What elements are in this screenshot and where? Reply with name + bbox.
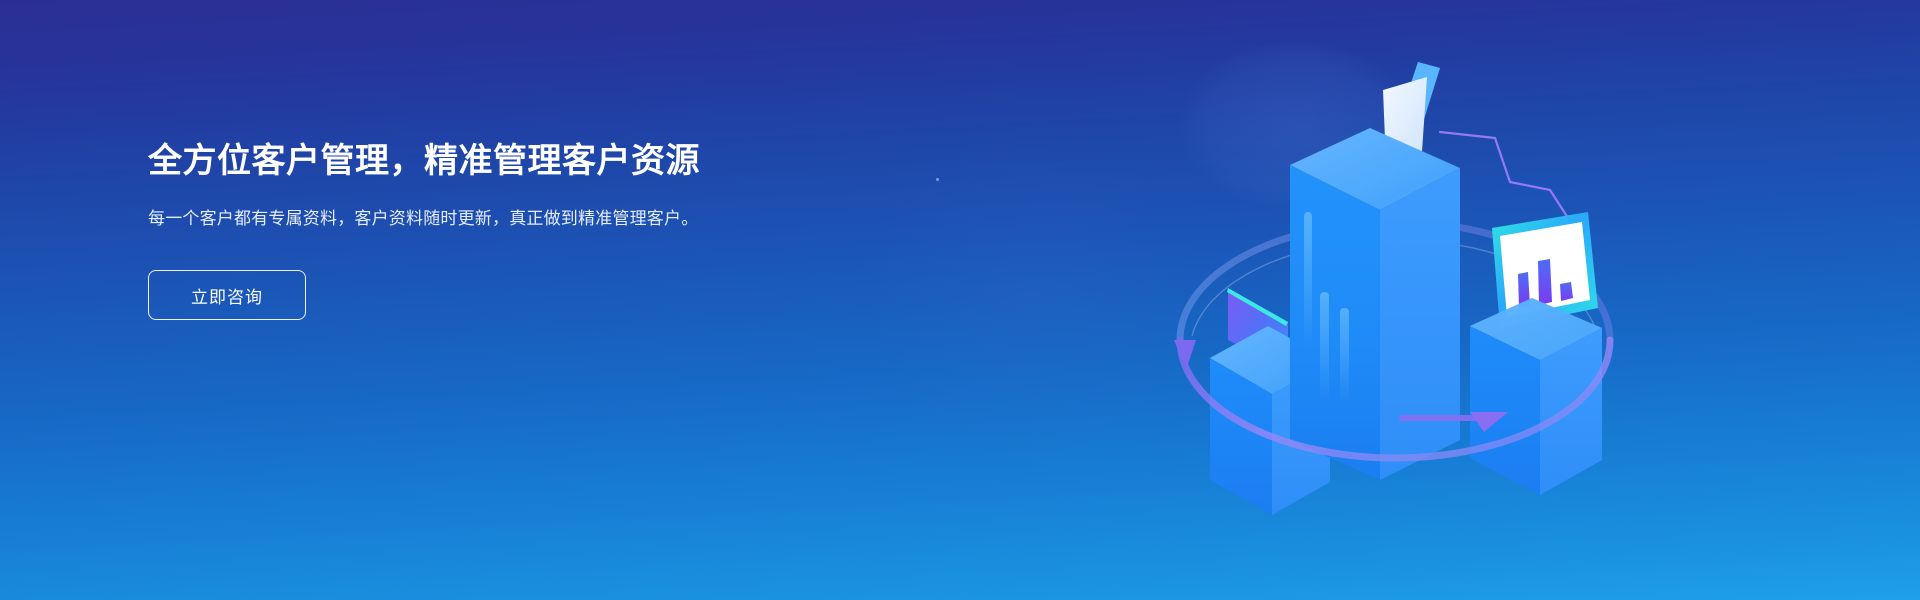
page-title: 全方位客户管理，精准管理客户资源 [148, 140, 788, 183]
hero-copy-block: 全方位客户管理，精准管理客户资源 每一个客户都有专属资料，客户资料随时更新，真正… [148, 140, 788, 320]
pillar-center-front [1290, 165, 1380, 480]
pillar-right [1470, 212, 1602, 495]
arrow-down-left-icon [1174, 340, 1196, 370]
sparkle-dot-icon [936, 178, 939, 181]
hero-illustration [1140, 40, 1660, 540]
hero-subtitle: 每一个客户都有专属资料，客户资料随时更新，真正做到精准管理客户。 [148, 205, 748, 233]
consult-now-button[interactable]: 立即咨询 [148, 270, 306, 320]
pillar-center-side [1380, 168, 1460, 480]
hero-banner: 全方位客户管理，精准管理客户资源 每一个客户都有专属资料，客户资料随时更新，真正… [0, 0, 1920, 600]
